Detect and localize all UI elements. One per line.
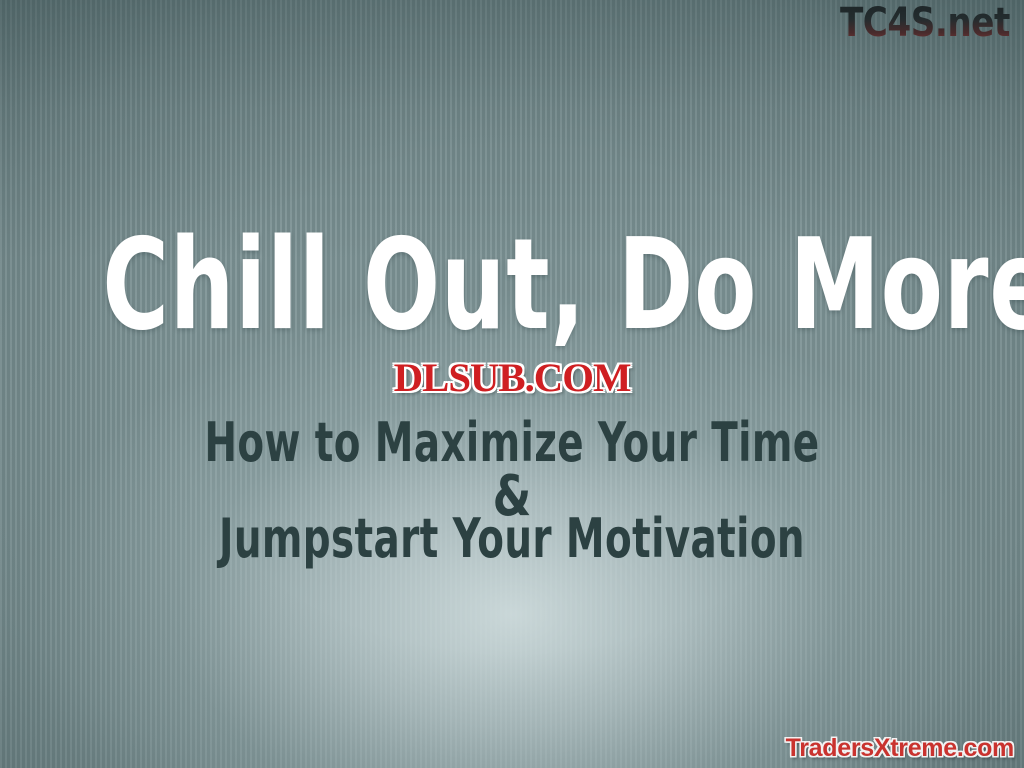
watermark-dlsub: DLSUB.COM <box>0 358 1024 398</box>
watermark-tradersxtreme: TradersXtreme.com <box>786 735 1014 763</box>
watermark-tc4s: TC4S.net <box>840 2 1010 44</box>
subtitle-line-2: Jumpstart Your Motivation <box>102 512 921 566</box>
presentation-slide: TC4S.net Chill Out, Do More DLSUB.COM Ho… <box>0 0 1024 768</box>
slide-subtitle: How to Maximize Your Time & Jumpstart Yo… <box>0 416 1024 566</box>
slide-title: Chill Out, Do More <box>102 222 921 348</box>
watermark-dlsub-text: DLSUB.COM <box>394 358 631 398</box>
subtitle-line-1: How to Maximize Your Time <box>102 416 921 470</box>
